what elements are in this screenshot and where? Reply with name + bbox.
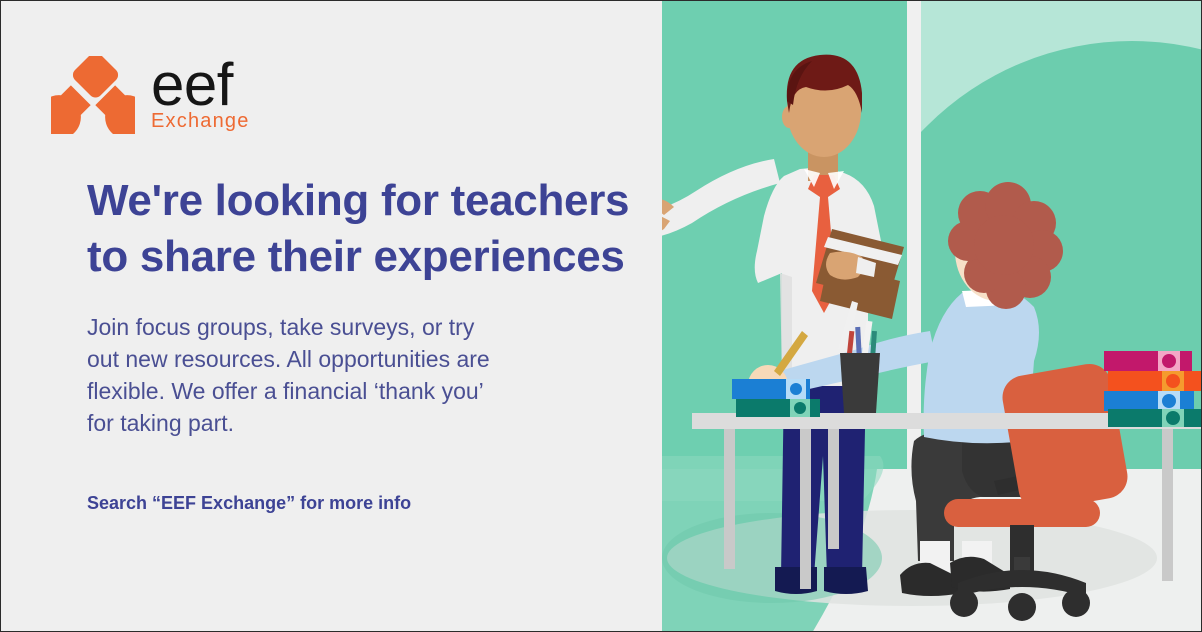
book-teal-right	[1108, 409, 1202, 427]
cta-search-text: Search “EEF Exchange” for more info	[87, 493, 411, 514]
book-stack-left	[732, 379, 820, 417]
book-stack-right	[1104, 351, 1202, 427]
body-line-2: out new resources. All opportunities are	[87, 343, 567, 375]
chair-castor-right	[1062, 589, 1090, 617]
book-teal-right-dot	[1166, 411, 1180, 425]
logo-sublabel: Exchange	[151, 110, 250, 133]
pillar-white	[907, 1, 921, 471]
chair-castor-left	[950, 589, 978, 617]
book-orange-right-dot	[1166, 374, 1180, 388]
eef-exchange-logo[interactable]: eef Exchange	[51, 56, 291, 136]
teacher-shoe-right	[824, 567, 868, 594]
book-blue-left-dot	[790, 383, 802, 395]
body-line-3: flexible. We offer a financial ‘thank yo…	[87, 375, 567, 407]
eef-exchange-recruitment-banner: eef Exchange We're looking for teachers …	[0, 0, 1202, 632]
desk-leg-right	[1162, 429, 1173, 581]
book-teal-left-dot	[794, 402, 806, 414]
desk-leg-left	[724, 429, 735, 569]
body-line-4: for taking part.	[87, 407, 567, 439]
logo-wordmark: eef	[151, 54, 250, 116]
headline-line-2: to share their experiences	[87, 229, 647, 285]
book-blue-right	[1104, 391, 1194, 411]
book-magenta-right-dot	[1162, 354, 1176, 368]
desk-leg-inner	[828, 429, 839, 549]
classroom-illustration	[662, 1, 1202, 632]
body-line-1: Join focus groups, take surveys, or try	[87, 311, 567, 343]
pencil-cup	[840, 353, 880, 413]
eef-trefoil-icon	[51, 56, 135, 134]
chair-seat	[944, 499, 1100, 527]
headline-line-1: We're looking for teachers	[87, 173, 647, 229]
book-orange-right	[1108, 371, 1202, 391]
logo-text-group: eef Exchange	[151, 54, 250, 133]
text-panel: eef Exchange We're looking for teachers …	[1, 1, 662, 632]
desk-leg-mid	[800, 429, 811, 589]
chair-castor-center	[1008, 593, 1036, 621]
book-blue-right-dot	[1162, 394, 1176, 408]
body-copy: Join focus groups, take surveys, or try …	[87, 311, 567, 439]
headline: We're looking for teachers to share thei…	[87, 173, 647, 285]
